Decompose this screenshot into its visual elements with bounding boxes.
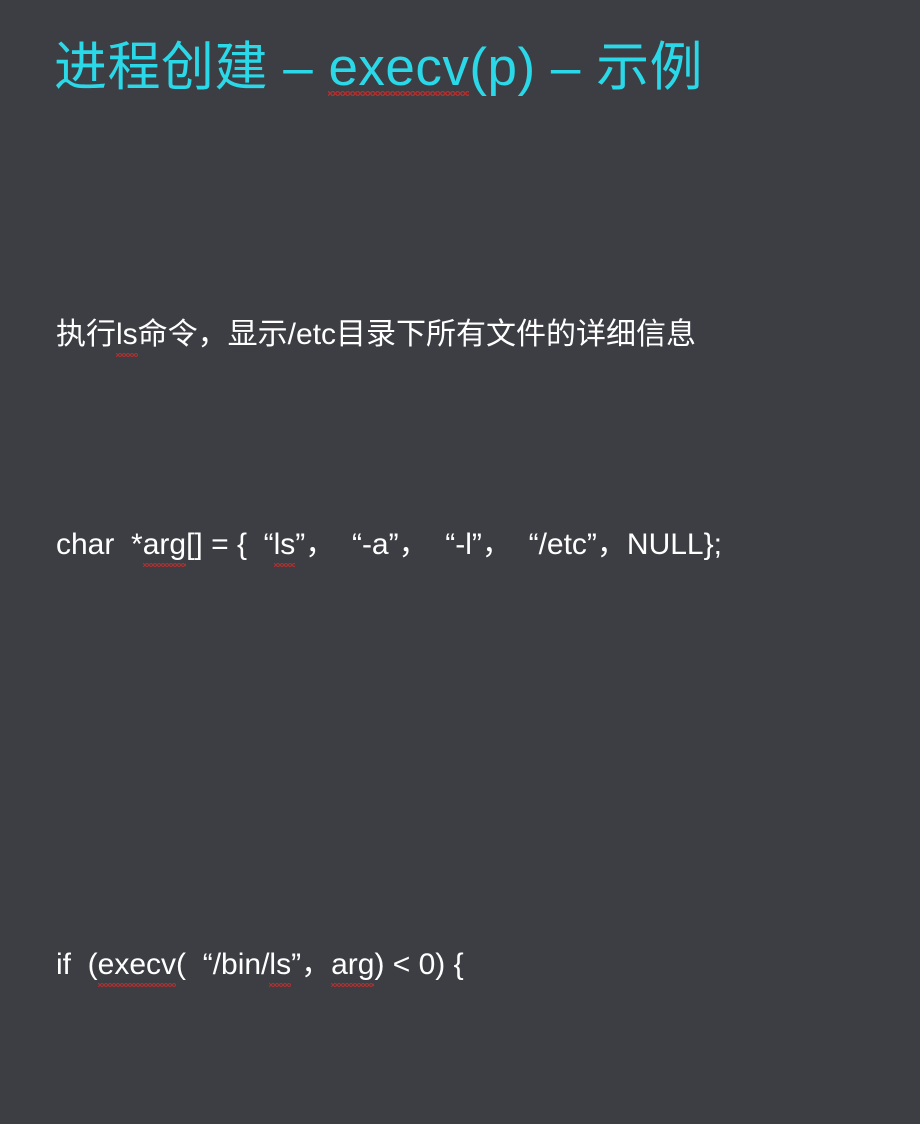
execv-if-seg-4: ) < 0) { (374, 948, 463, 981)
slide-title-part-1: 进程创建 – (54, 38, 328, 97)
execv-if-seg-1: if ( (56, 948, 98, 981)
execv-if-seg-3: ”， (291, 948, 331, 981)
body-line-blank-1 (56, 734, 906, 776)
slide-title-misspelled-execv: execv (328, 36, 469, 100)
description-misspelled-ls: ls (116, 314, 138, 356)
arg-decl-seg-3: ”， “-a”， “-l”， “/etc”，NULL}; (295, 528, 722, 561)
execv-if-misspelled-arg: arg (331, 944, 374, 986)
arg-decl-misspelled-ls: ls (274, 524, 296, 566)
body-line-description: 执行ls命令，显示/etc目录下所有文件的详细信息 (56, 314, 906, 356)
description-pre-text: 执行 (56, 318, 116, 351)
presentation-slide: 进程创建 – execv(p) – 示例 执行ls命令，显示/etc目录下所有文… (0, 0, 920, 562)
description-post-text: 命令，显示/etc目录下所有文件的详细信息 (138, 318, 696, 351)
body-line-arg-declaration: char *arg[] = { “ls”， “-a”， “-l”， “/etc”… (56, 524, 906, 566)
slide-body-content: 执行ls命令，显示/etc目录下所有文件的详细信息 char *arg[] = … (56, 146, 906, 1124)
execv-if-seg-2: ( “/bin/ (176, 948, 269, 981)
slide-title-part-3: (p) – 示例 (469, 38, 703, 97)
arg-decl-seg-2: [] = { “ (186, 528, 274, 561)
arg-decl-seg-1: char * (56, 528, 143, 561)
execv-if-misspelled-ls: ls (269, 944, 291, 986)
slide-title: 进程创建 – execv(p) – 示例 (54, 36, 703, 100)
body-line-execv-if: if (execv( “/bin/ls”，arg) < 0) { (56, 944, 906, 986)
execv-if-misspelled-execv: execv (98, 944, 176, 986)
arg-decl-misspelled-arg: arg (143, 524, 186, 566)
